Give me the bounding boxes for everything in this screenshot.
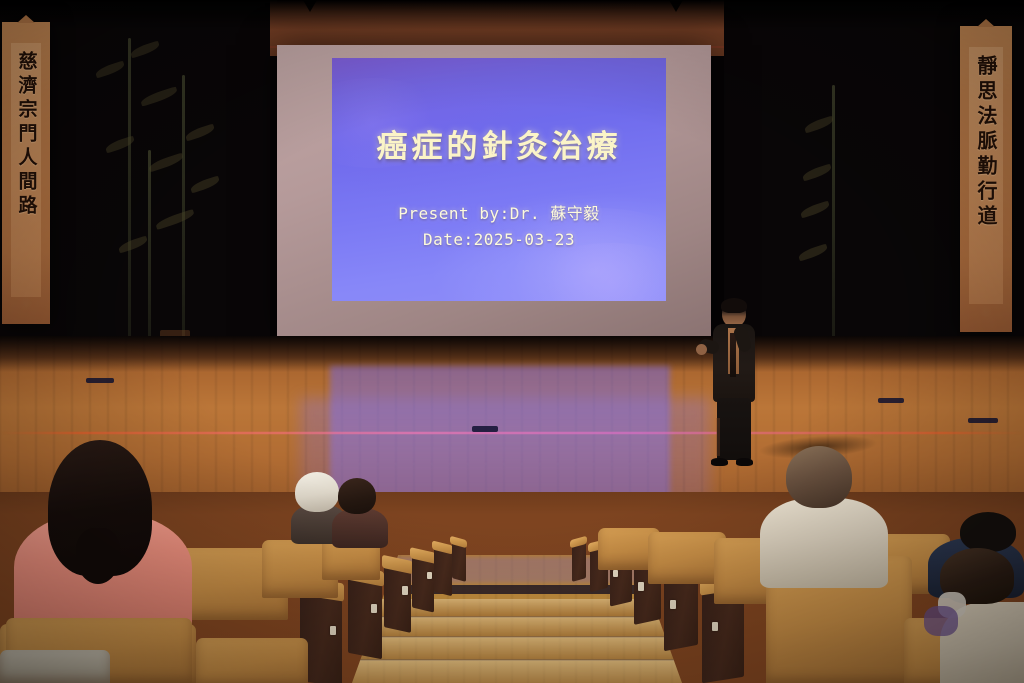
- banner-notch-icon: [17, 15, 35, 23]
- slide-title: 癌症的針灸治療: [377, 130, 622, 164]
- list-item: [930, 548, 1024, 683]
- slide-presenter-line: Present by:Dr. 蘇守毅: [398, 200, 600, 224]
- curtain-hook-icon: [303, 0, 317, 12]
- hanging-banner-right: 靜思法脈勤行道: [960, 26, 1012, 332]
- audience-clothing: [760, 498, 888, 588]
- banner-left-text: 慈濟宗門人間路: [17, 51, 36, 219]
- curtain-hook-icon: [669, 0, 683, 12]
- audience-head-bottom-left: [0, 650, 110, 683]
- audience-mask-purple: [924, 606, 958, 636]
- list-item: [762, 446, 882, 558]
- audience-hair: [295, 472, 339, 512]
- floor-cable: [878, 398, 904, 403]
- seat-back[interactable]: [196, 638, 308, 683]
- floor-marker-tape: [472, 426, 498, 432]
- slide-date-line: Date:2025-03-23: [423, 230, 575, 249]
- speaker-shoe-right: [736, 458, 753, 466]
- speaker-figure: [700, 300, 770, 470]
- projected-slide: 癌症的針灸治療 Present by:Dr. 蘇守毅 Date:2025-03-…: [332, 58, 666, 301]
- audience-hair-strand: [76, 528, 120, 584]
- banner-flower-icon: [20, 297, 33, 310]
- list-item: [336, 478, 384, 532]
- audience-hair: [338, 478, 376, 514]
- speaker-shoe-left: [711, 458, 728, 466]
- hanging-banner-left: 慈濟宗門人間路: [2, 22, 50, 324]
- audience-clothing: [332, 508, 388, 548]
- floor-cable: [968, 418, 998, 423]
- banner-notch-icon: [977, 19, 995, 27]
- audience-hair: [786, 446, 852, 508]
- speaker-hand-left: [696, 344, 707, 355]
- banner-right-text: 靜思法脈勤行道: [976, 55, 996, 230]
- speaker-leg-gap: [716, 418, 720, 456]
- banner-flower-icon: [980, 305, 993, 318]
- auditorium-scene: 慈濟宗門人間路 靜思法脈勤行道 癌症的針灸治療 Present by:Dr. 蘇…: [0, 0, 1024, 683]
- audience-hair: [960, 512, 1016, 552]
- list-item: [14, 440, 204, 620]
- speaker-trousers: [717, 398, 751, 460]
- speaker-hair: [721, 298, 747, 313]
- floor-cable: [86, 378, 114, 383]
